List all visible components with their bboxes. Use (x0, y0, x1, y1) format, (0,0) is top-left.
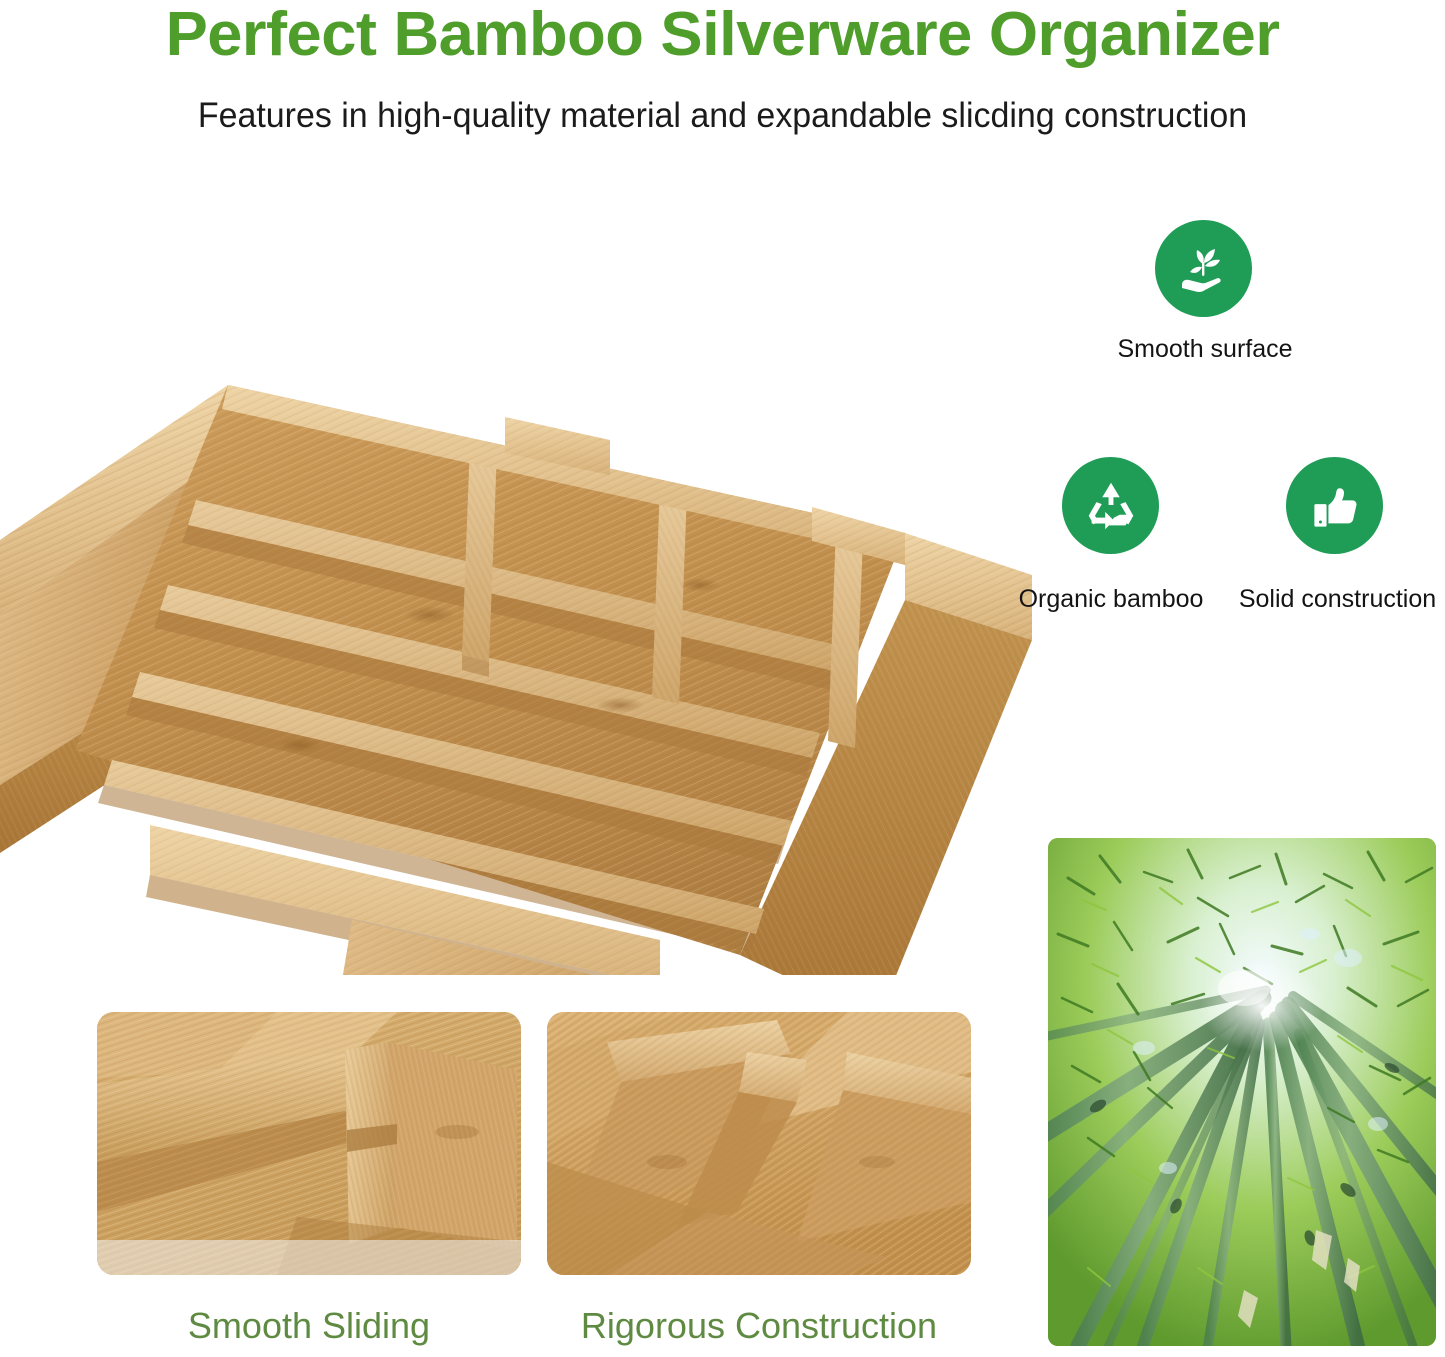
detail-caption-rigorous-construction: Rigorous Construction (547, 1305, 971, 1347)
badge-label-solid-construction: Solid construction (1230, 585, 1445, 614)
badge-label-organic-bamboo: Organic bamboo (975, 585, 1247, 614)
badge-label-smooth-surface: Smooth surface (1060, 335, 1350, 364)
badge-solid-construction (1286, 457, 1383, 554)
thumbs-up-icon (1305, 476, 1365, 536)
compartment-divider-closeup-illustration (547, 1012, 971, 1275)
hero-product-image (0, 185, 1060, 975)
badge-smooth-surface (1155, 220, 1252, 317)
bamboo-grove-illustration (1048, 838, 1436, 1346)
page-subtitle: Features in high-quality material and ex… (22, 96, 1424, 136)
page-title: Perfect Bamboo Silverware Organizer (0, 2, 1445, 68)
detail-caption-smooth-sliding: Smooth Sliding (97, 1305, 521, 1347)
sliding-rail-closeup-illustration (97, 1012, 521, 1275)
detail-photo-rigorous-construction (547, 1012, 971, 1275)
hand-plant-icon (1172, 237, 1236, 301)
badge-organic-bamboo (1062, 457, 1159, 554)
bamboo-forest-photo (1048, 838, 1436, 1346)
detail-photo-smooth-sliding (97, 1012, 521, 1275)
bamboo-tray-illustration (0, 185, 1060, 975)
recycle-icon (1080, 475, 1142, 537)
